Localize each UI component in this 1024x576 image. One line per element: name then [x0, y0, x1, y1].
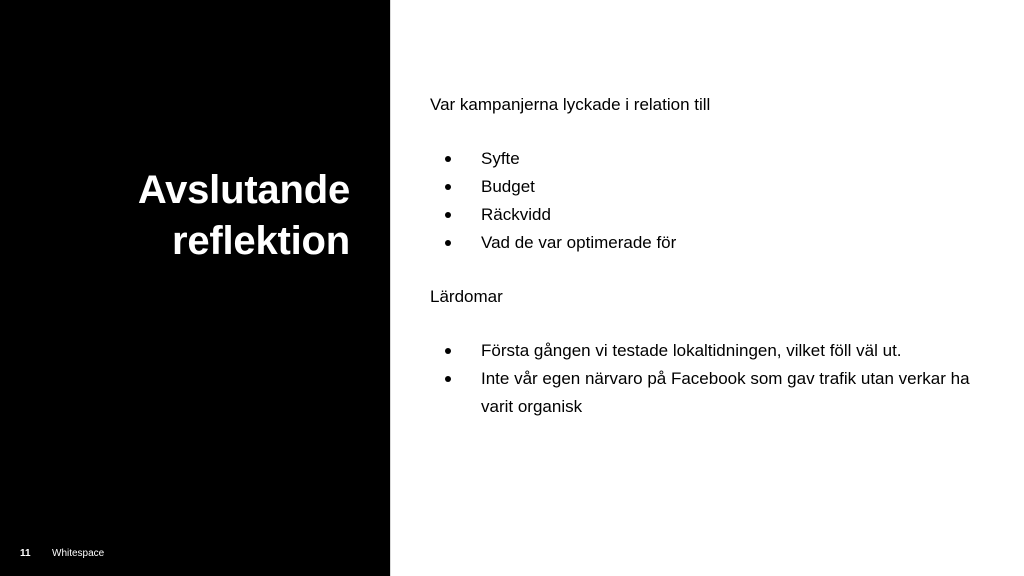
- list-item-label: Syfte: [481, 149, 520, 168]
- title-panel: Avslutande reflektion 11 Whitespace: [0, 0, 390, 576]
- list-item: Syfte: [430, 145, 990, 173]
- footer-brand-name: Whitespace: [52, 547, 104, 561]
- list-item-label: Räckvidd: [481, 205, 551, 224]
- bullet-dot-icon: [445, 156, 451, 162]
- list-item: Vad de var optimerade för: [430, 229, 990, 257]
- lessons-heading: Lärdomar: [430, 284, 990, 309]
- spacer-before-lessons: [430, 257, 990, 284]
- list-item: Budget: [430, 173, 990, 201]
- footer-page-number: 11: [20, 547, 52, 561]
- list-item-label: Budget: [481, 177, 535, 196]
- list-item-label: Första gången vi testade lokaltidningen,…: [481, 341, 902, 360]
- list-item-label: Vad de var optimerade för: [481, 233, 676, 252]
- bullet-dot-icon: [445, 240, 451, 246]
- page-title: Avslutande reflektion: [40, 165, 350, 267]
- list-item-label: Inte vår egen närvaro på Facebook som ga…: [481, 369, 970, 416]
- bullet-dot-icon: [445, 212, 451, 218]
- slide: Avslutande reflektion 11 Whitespace Var …: [0, 0, 1024, 576]
- spacer-after-lessons-heading: [430, 309, 990, 337]
- spacer-after-lead: [430, 117, 990, 145]
- list-item: Räckvidd: [430, 201, 990, 229]
- slide-footer: 11 Whitespace: [20, 547, 104, 561]
- bullet-dot-icon: [445, 184, 451, 190]
- lead-paragraph: Var kampanjerna lyckade i relation till: [430, 92, 990, 117]
- bullet-dot-icon: [445, 376, 451, 382]
- panel-divider: [390, 0, 391, 576]
- list-item: Första gången vi testade lokaltidningen,…: [430, 337, 990, 365]
- criteria-bullet-list: Syfte Budget Räckvidd Vad de var optimer…: [430, 145, 990, 257]
- list-item: Inte vår egen närvaro på Facebook som ga…: [430, 365, 990, 421]
- bullet-dot-icon: [445, 348, 451, 354]
- content-body: Var kampanjerna lyckade i relation till …: [430, 92, 990, 421]
- lessons-bullet-list: Första gången vi testade lokaltidningen,…: [430, 337, 990, 421]
